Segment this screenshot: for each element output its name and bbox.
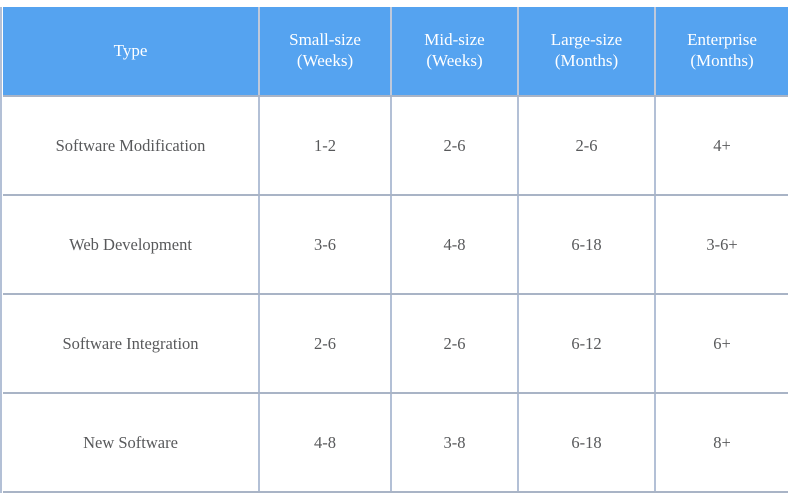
- table-header-row: Type Small-size (Weeks) Mid-size (Weeks)…: [3, 7, 788, 96]
- column-header-enterprise: Enterprise (Months): [655, 7, 788, 96]
- cell-large-size: 6-12: [518, 294, 655, 393]
- column-header-large-size: Large-size (Months): [518, 7, 655, 96]
- cell-mid-size: 4-8: [391, 195, 518, 294]
- column-header-type-label: Type: [9, 41, 252, 62]
- column-header-enterprise-label: Enterprise: [662, 30, 782, 51]
- table-header: Type Small-size (Weeks) Mid-size (Weeks)…: [3, 7, 788, 96]
- column-header-large-size-label: Large-size: [525, 30, 648, 51]
- column-header-type: Type: [3, 7, 259, 96]
- cell-large-size: 6-18: [518, 393, 655, 492]
- cell-type: Software Integration: [3, 294, 259, 393]
- column-header-enterprise-unit: (Months): [662, 51, 782, 72]
- cell-enterprise: 4+: [655, 96, 788, 195]
- column-header-mid-size-label: Mid-size: [398, 30, 511, 51]
- table-row: Software Integration 2-6 2-6 6-12 6+: [3, 294, 788, 393]
- cell-large-size: 2-6: [518, 96, 655, 195]
- table-left-edge: [0, 7, 2, 493]
- cell-mid-size: 2-6: [391, 96, 518, 195]
- cell-type: Software Modification: [3, 96, 259, 195]
- column-header-small-size-unit: (Weeks): [266, 51, 384, 72]
- cell-enterprise: 6+: [655, 294, 788, 393]
- table-body: Software Modification 1-2 2-6 2-6 4+ Web…: [3, 96, 788, 492]
- project-timeline-table-container: Type Small-size (Weeks) Mid-size (Weeks)…: [3, 7, 788, 493]
- cell-type: New Software: [3, 393, 259, 492]
- column-header-small-size-label: Small-size: [266, 30, 384, 51]
- table-row: Web Development 3-6 4-8 6-18 3-6+: [3, 195, 788, 294]
- cell-enterprise: 8+: [655, 393, 788, 492]
- cell-mid-size: 3-8: [391, 393, 518, 492]
- project-timeline-table: Type Small-size (Weeks) Mid-size (Weeks)…: [3, 7, 788, 493]
- column-header-small-size: Small-size (Weeks): [259, 7, 391, 96]
- cell-small-size: 3-6: [259, 195, 391, 294]
- table-row: New Software 4-8 3-8 6-18 8+: [3, 393, 788, 492]
- column-header-mid-size: Mid-size (Weeks): [391, 7, 518, 96]
- cell-large-size: 6-18: [518, 195, 655, 294]
- cell-small-size: 4-8: [259, 393, 391, 492]
- cell-small-size: 1-2: [259, 96, 391, 195]
- cell-type: Web Development: [3, 195, 259, 294]
- table-row: Software Modification 1-2 2-6 2-6 4+: [3, 96, 788, 195]
- cell-enterprise: 3-6+: [655, 195, 788, 294]
- cell-mid-size: 2-6: [391, 294, 518, 393]
- cell-small-size: 2-6: [259, 294, 391, 393]
- column-header-mid-size-unit: (Weeks): [398, 51, 511, 72]
- column-header-large-size-unit: (Months): [525, 51, 648, 72]
